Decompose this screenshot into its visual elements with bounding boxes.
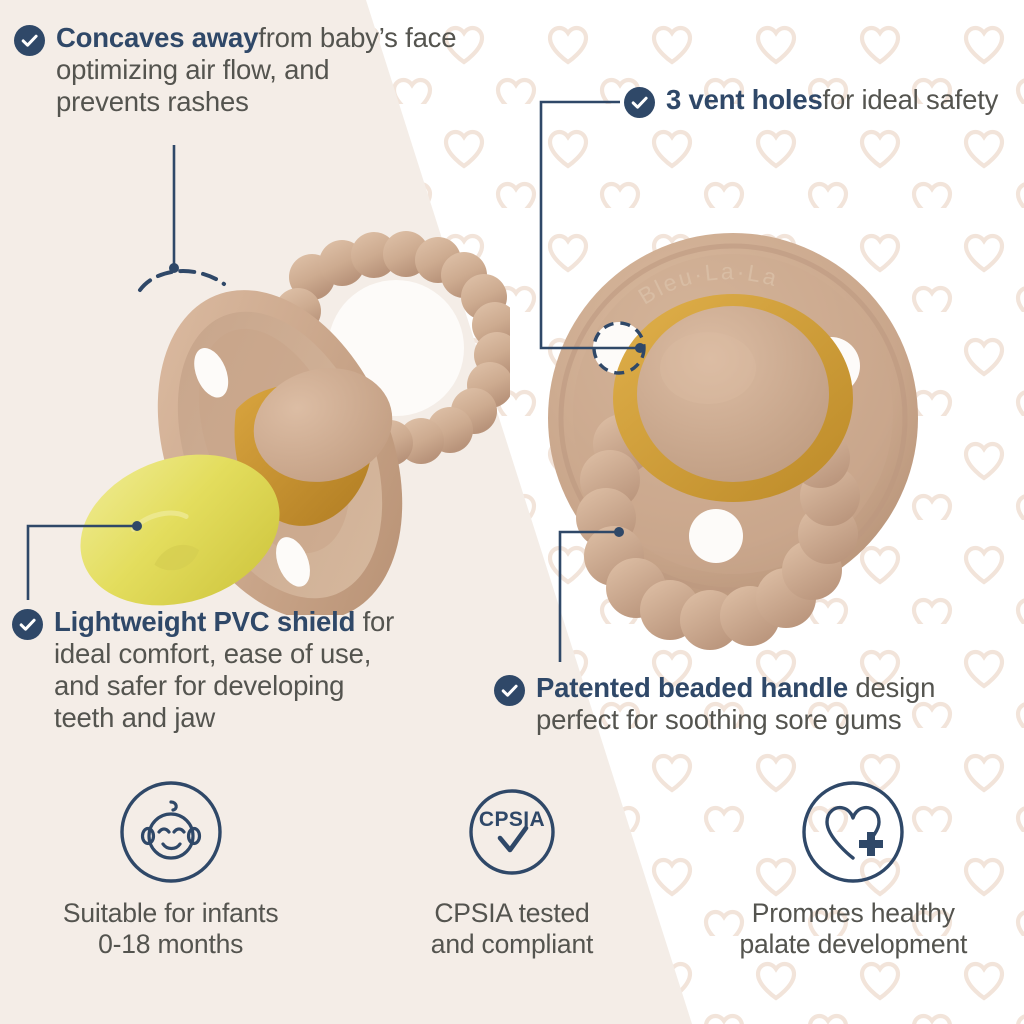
callout-beaded-handle-headline: Patented beaded handle — [536, 672, 848, 703]
check-circle-icon — [494, 675, 525, 706]
leader-pvc-shield — [28, 521, 142, 600]
callout-concaves-headline: Concaves away — [56, 22, 258, 53]
cpsia-badge-text: CPSIA — [479, 808, 545, 831]
check-circle-icon — [14, 25, 45, 56]
check-circle-icon — [624, 87, 655, 118]
leader-vent-holes — [541, 102, 645, 373]
dashed-arc-highlight — [140, 271, 224, 290]
callout-vent-holes-body: for ideal safety — [823, 84, 999, 115]
callout-beaded-handle-text: Patented beaded handle design perfect fo… — [536, 672, 935, 736]
baby-face-icon — [119, 780, 223, 884]
callout-vent-holes: 3 vent holesfor ideal safety — [624, 84, 998, 118]
heart-plus-icon — [801, 780, 905, 884]
feature-cpsia-label: CPSIA tested and compliant — [431, 898, 593, 960]
plus-badge-icon — [859, 832, 883, 856]
callout-vent-holes-text: 3 vent holesfor ideal safety — [666, 84, 998, 116]
callout-vent-holes-headline: 3 vent holes — [666, 84, 823, 115]
callout-pvc-shield-headline: Lightweight PVC shield — [54, 606, 355, 637]
callout-concaves-text: Concaves awayfrom baby’s face optimizing… — [56, 22, 456, 118]
feature-palate-label: Promotes healthy palate development — [739, 898, 967, 960]
leader-beaded-handle — [560, 527, 624, 662]
feature-cpsia: CPSIA CPSIA tested and compliant — [341, 780, 682, 960]
infographic-canvas: Bleu·La·La — [0, 0, 1024, 1024]
feature-infants: Suitable for infants 0-18 months — [0, 780, 341, 960]
callout-pvc-shield: Lightweight PVC shield for ideal comfort… — [12, 606, 394, 734]
callout-beaded-handle: Patented beaded handle design perfect fo… — [494, 672, 935, 736]
check-circle-icon — [12, 609, 43, 640]
cpsia-check-icon: CPSIA — [460, 780, 564, 884]
feature-palate: Promotes healthy palate development — [683, 780, 1024, 960]
callout-concaves: Concaves awayfrom baby’s face optimizing… — [14, 22, 456, 118]
callout-pvc-shield-text: Lightweight PVC shield for ideal comfort… — [54, 606, 394, 734]
feature-badges-row: Suitable for infants 0-18 months CPSIA C… — [0, 780, 1024, 1024]
leader-concaves — [140, 145, 224, 290]
feature-infants-label: Suitable for infants 0-18 months — [63, 898, 279, 960]
